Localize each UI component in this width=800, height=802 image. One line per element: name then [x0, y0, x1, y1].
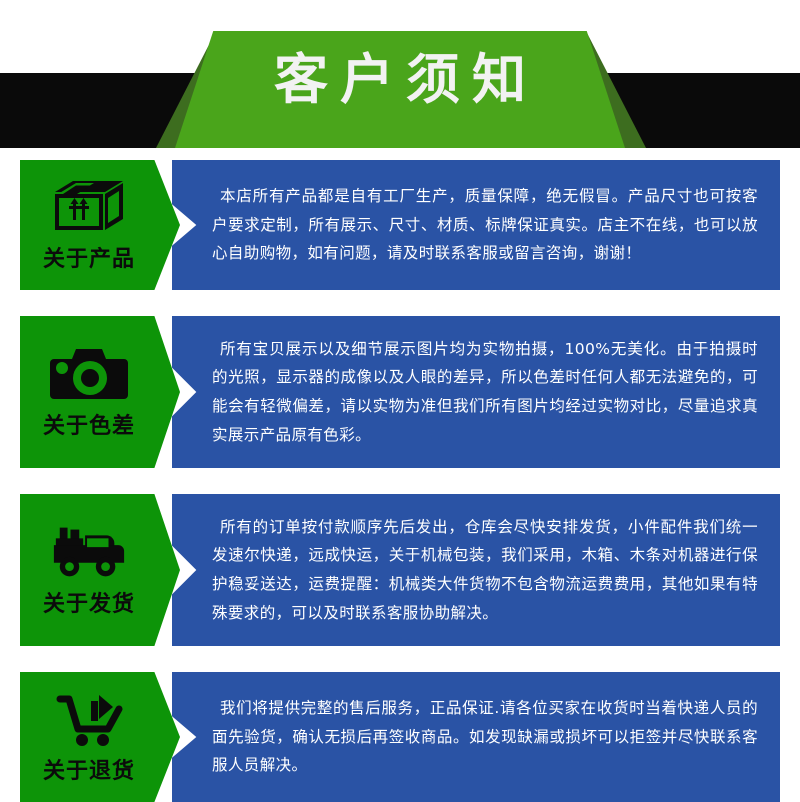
notice-row-product: 关于产品 本店所有产品都是自有工厂生产，质量保障，绝无假冒。产品尺寸也可按客户要…: [0, 160, 800, 290]
header-banner: 客户须知: [0, 0, 800, 160]
icon-card-product[interactable]: 关于产品: [20, 160, 180, 290]
icon-card-returns[interactable]: 关于退货: [20, 672, 180, 802]
text-panel-shipping: 所有的订单按付款顺序先后发出，仓库会尽快安排发货，小件配件我们统一发速尔快递，远…: [172, 494, 780, 646]
forklift-truck-icon: [50, 522, 128, 582]
text-panel-product: 本店所有产品都是自有工厂生产，质量保障，绝无假冒。产品尺寸也可按客户要求定制，所…: [172, 160, 780, 290]
notice-text: 所有宝贝展示以及细节展示图片均为实物拍摄，100%无美化。由于拍摄时的光照，显示…: [212, 335, 758, 450]
icon-card-label: 关于发货: [43, 586, 135, 618]
text-panel-returns: 我们将提供完整的售后服务，正品保证.请各位买家在收货时当着快递人员的面先验货，确…: [172, 672, 780, 802]
notice-row-color: 关于色差 所有宝贝展示以及细节展示图片均为实物拍摄，100%无美化。由于拍摄时的…: [0, 316, 800, 468]
icon-card-label: 关于退货: [43, 753, 135, 785]
notice-text: 我们将提供完整的售后服务，正品保证.请各位买家在收货时当着快递人员的面先验货，确…: [212, 694, 758, 780]
notice-text: 本店所有产品都是自有工厂生产，质量保障，绝无假冒。产品尺寸也可按客户要求定制，所…: [212, 182, 758, 268]
icon-card-label: 关于色差: [43, 408, 135, 440]
package-box-icon: [50, 177, 128, 237]
notice-text: 所有的订单按付款顺序先后发出，仓库会尽快安排发货，小件配件我们统一发速尔快递，远…: [212, 513, 758, 628]
notice-row-shipping: 关于发货 所有的订单按付款顺序先后发出，仓库会尽快安排发货，小件配件我们统一发速…: [0, 494, 800, 646]
icon-card-shipping[interactable]: 关于发货: [20, 494, 180, 646]
notice-sections: 关于产品 本店所有产品都是自有工厂生产，质量保障，绝无假冒。产品尺寸也可按客户要…: [0, 160, 800, 802]
text-panel-color: 所有宝贝展示以及细节展示图片均为实物拍摄，100%无美化。由于拍摄时的光照，显示…: [172, 316, 780, 468]
notice-row-returns: 关于退货 我们将提供完整的售后服务，正品保证.请各位买家在收货时当着快递人员的面…: [0, 672, 800, 802]
camera-icon: [50, 344, 128, 404]
return-cart-icon: [50, 689, 128, 749]
page-title: 客户须知: [0, 0, 800, 148]
icon-card-label: 关于产品: [43, 241, 135, 273]
icon-card-color[interactable]: 关于色差: [20, 316, 180, 468]
